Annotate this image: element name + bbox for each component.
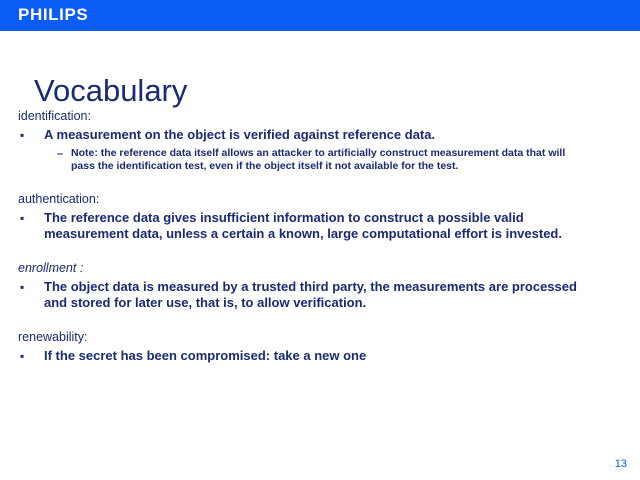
square-bullet-icon: ▪ (20, 210, 44, 226)
spacer (0, 173, 640, 191)
list-item: ▪ If the secret has been compromised: ta… (20, 348, 640, 364)
list-item: ▪ The object data is measured by a trust… (20, 279, 640, 311)
list-item: ▪ The reference data gives insufficient … (20, 210, 640, 242)
page-number: 13 (615, 458, 627, 471)
bullet-text: The reference data gives insufficient in… (44, 210, 592, 242)
list-item: – Note: the reference data itself allows… (57, 147, 640, 173)
section-authentication: authentication: ▪ The reference data giv… (0, 191, 640, 242)
list-item: ▪ A measurement on the object is verifie… (20, 127, 640, 143)
philips-logo: PHILIPS (18, 5, 88, 25)
spacer (0, 242, 640, 260)
square-bullet-icon: ▪ (20, 127, 44, 143)
bullet-text: If the secret has been compromised: take… (44, 348, 584, 364)
section-renewability: renewability: ▪ If the secret has been c… (0, 329, 640, 364)
section-enrollment: enrollment : ▪ The object data is measur… (0, 260, 640, 311)
section-identification: identification: ▪ A measurement on the o… (0, 108, 640, 173)
section-label-enrollment: enrollment : (18, 260, 640, 276)
square-bullet-icon: ▪ (20, 348, 44, 364)
section-label-identification: identification: (18, 108, 640, 124)
section-label-renewability: renewability: (18, 329, 640, 345)
section-label-authentication: authentication: (18, 191, 640, 207)
spacer (0, 311, 640, 329)
page-title: Vocabulary (34, 73, 187, 109)
square-bullet-icon: ▪ (20, 279, 44, 295)
bullet-text: The object data is measured by a trusted… (44, 279, 584, 311)
subbullet-text: Note: the reference data itself allows a… (71, 147, 591, 173)
header-bar: PHILIPS (0, 0, 640, 31)
dash-bullet-icon: – (57, 147, 71, 161)
bullet-text: A measurement on the object is verified … (44, 127, 544, 143)
slide-content: identification: ▪ A measurement on the o… (0, 108, 640, 364)
